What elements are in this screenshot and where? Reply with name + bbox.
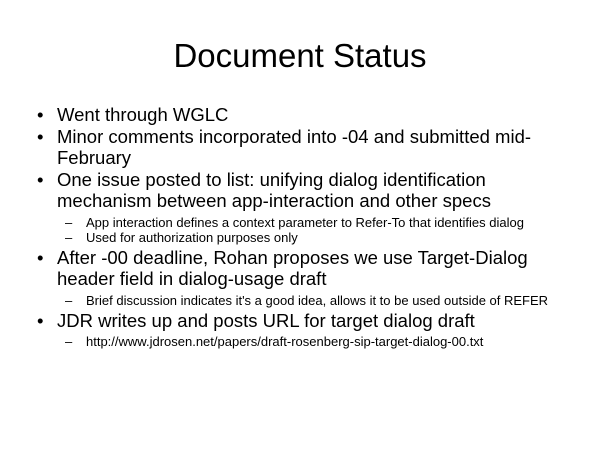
list-item: • Minor comments incorporated into -04 a…: [30, 126, 557, 169]
bullet-list-level-2: – App interaction defines a context para…: [57, 215, 557, 245]
list-item-text: After -00 deadline, Rohan proposes we us…: [57, 247, 557, 290]
list-item: • One issue posted to list: unifying dia…: [30, 169, 557, 245]
presentation-slide: Document Status • Went through WGLC • Mi…: [0, 0, 600, 450]
dash-marker-icon: –: [65, 215, 72, 230]
dash-marker-icon: –: [65, 293, 72, 308]
sub-list-item-text: Brief discussion indicates it's a good i…: [86, 293, 556, 308]
slide-body: • Went through WGLC • Minor comments inc…: [30, 104, 570, 351]
sub-list-item-text: App interaction defines a context parame…: [86, 215, 556, 230]
list-item-text: Minor comments incorporated into -04 and…: [57, 126, 557, 169]
list-item: • Went through WGLC: [30, 104, 557, 126]
list-item-text: One issue posted to list: unifying dialo…: [57, 169, 557, 212]
sub-list-item: – Used for authorization purposes only: [65, 230, 556, 245]
sub-list-item: – Brief discussion indicates it's a good…: [65, 293, 556, 308]
bullet-list-level-2: – Brief discussion indicates it's a good…: [57, 293, 557, 308]
bullet-marker-icon: •: [37, 169, 43, 191]
dash-marker-icon: –: [65, 334, 72, 349]
dash-marker-icon: –: [65, 230, 72, 245]
sub-list-item: – http://www.jdrosen.net/papers/draft-ro…: [65, 334, 556, 349]
bullet-marker-icon: •: [37, 104, 43, 126]
bullet-marker-icon: •: [37, 310, 43, 332]
list-item-text: Went through WGLC: [57, 104, 557, 126]
bullet-marker-icon: •: [37, 126, 43, 148]
sub-list-item-url: http://www.jdrosen.net/papers/draft-rose…: [86, 334, 556, 349]
list-item-text: JDR writes up and posts URL for target d…: [57, 310, 557, 332]
bullet-list-level-1: • Went through WGLC • Minor comments inc…: [30, 104, 570, 349]
sub-list-item-text: Used for authorization purposes only: [86, 230, 556, 245]
sub-list-item: – App interaction defines a context para…: [65, 215, 556, 230]
slide-title: Document Status: [0, 36, 600, 76]
list-item: • JDR writes up and posts URL for target…: [30, 310, 557, 350]
bullet-marker-icon: •: [37, 247, 43, 269]
list-item: • After -00 deadline, Rohan proposes we …: [30, 247, 557, 308]
bullet-list-level-2: – http://www.jdrosen.net/papers/draft-ro…: [57, 334, 557, 349]
